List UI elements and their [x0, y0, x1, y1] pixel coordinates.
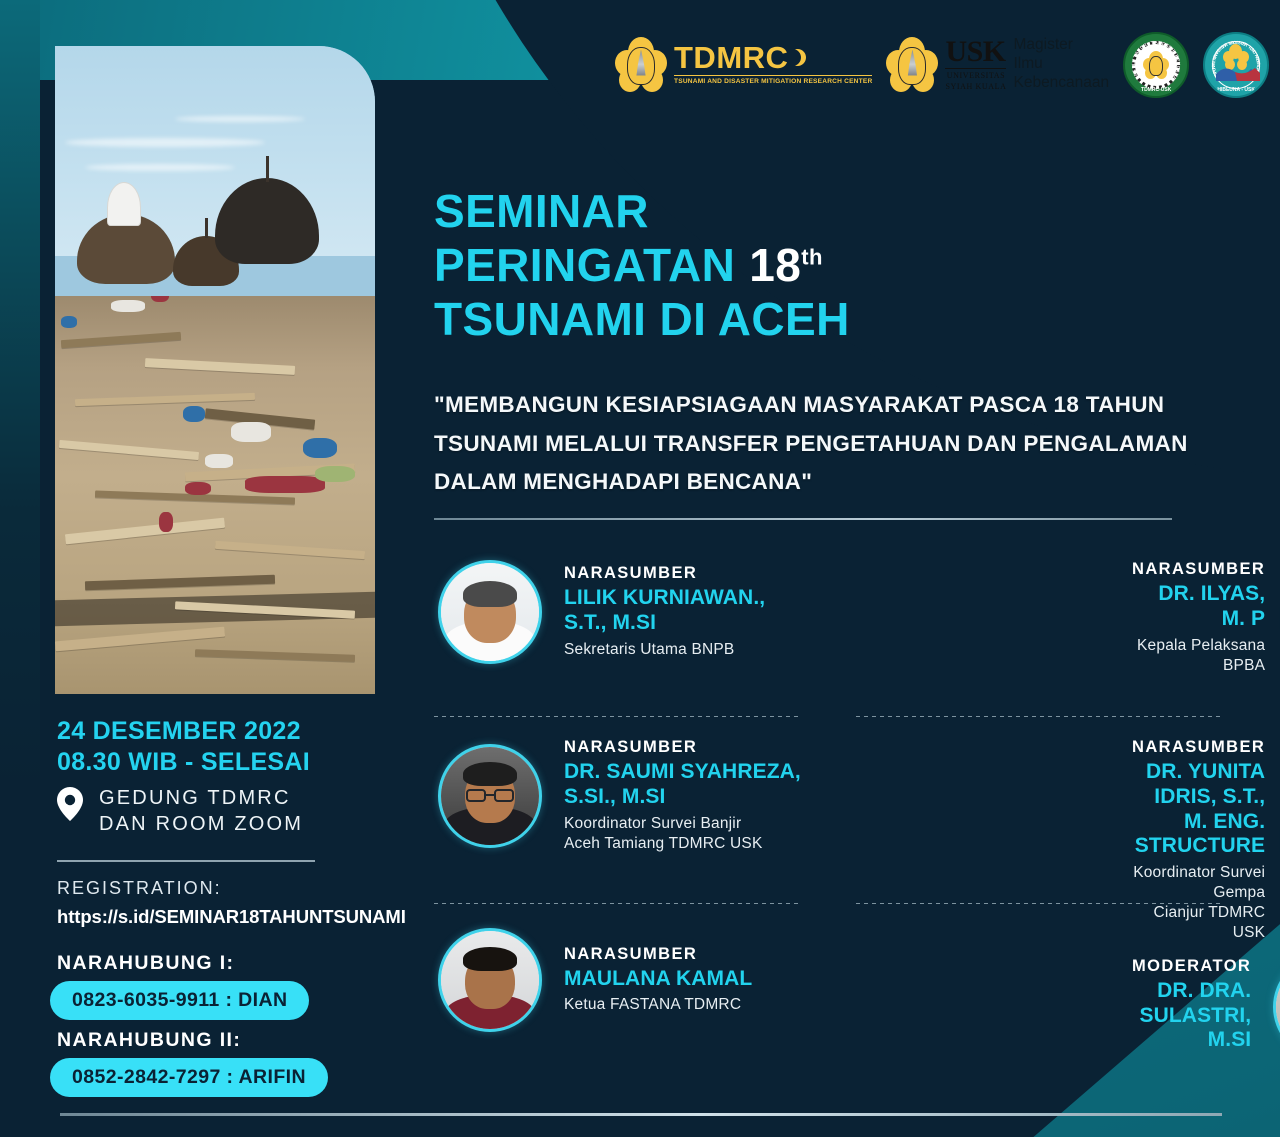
moderator-card-sulastri: MODERATOR DR. DRA. SULASTRI, M.SI — [1110, 955, 1280, 1059]
usk-shield-icon-2 — [886, 37, 938, 93]
background-left-edge — [0, 0, 40, 1137]
hibeuna-badge-label: HIBEUNA - USK — [1205, 87, 1267, 93]
contact-1-label: NARAHUBUNG I: — [57, 952, 234, 975]
usk-tagline-1: UNIVERSITAS — [945, 71, 1006, 81]
usk-wordmark: USK — [945, 37, 1006, 67]
venue-line-1: GEDUNG TDMRC — [99, 785, 303, 811]
avatar — [438, 744, 542, 848]
tdmrc-logo: TDMRC TSUNAMI AND DISASTER MITIGATION RE… — [615, 37, 872, 93]
event-time: 08.30 WIB - SELESAI — [57, 747, 310, 778]
speaker-row-divider-2-left — [434, 903, 799, 904]
speaker-row-divider-1-left — [434, 716, 799, 717]
event-date: 24 DESEMBER 2022 — [57, 716, 310, 747]
title-line-3: TSUNAMI DI ACEH — [434, 293, 850, 347]
event-datetime: 24 DESEMBER 2022 08.30 WIB - SELESAI — [57, 716, 310, 777]
speaker-affiliation: Koordinator Survei BanjirAceh Tamiang TD… — [564, 814, 801, 854]
title-line-2: PERINGATAN — [434, 239, 735, 293]
contact-1-value[interactable]: 0823-6035-9911 : DIAN — [50, 981, 309, 1020]
speaker-card-maulana-kamal: NARASUMBER MAULANA KAMAL Ketua FASTANA T… — [438, 928, 774, 1032]
tdmrc-name: TDMRC — [674, 42, 788, 73]
speaker-card-dr-ilyas: NARASUMBER DR. ILYAS, M. P Kepala Pelaks… — [1110, 560, 1280, 676]
speaker-affiliation: Ketua FASTANA TDMRC — [564, 995, 752, 1015]
speaker-row-divider-1-right — [856, 716, 1222, 717]
footer-divider — [60, 1113, 1222, 1116]
usk-divider — [945, 68, 1006, 70]
speaker-name: LILIK KURNIAWAN.,S.T., M.SI — [564, 586, 765, 636]
usk-shield-icon — [615, 37, 667, 93]
title-line-2-row: PERINGATAN 18th — [434, 239, 850, 293]
speaker-role: NARASUMBER — [564, 564, 765, 583]
tdmrc-tagline: TSUNAMI AND DISASTER MITIGATION RESEARCH… — [674, 78, 872, 87]
speaker-role: NARASUMBER — [564, 738, 801, 757]
speaker-role: NARASUMBER — [564, 945, 752, 964]
event-location: GEDUNG TDMRC DAN ROOM ZOOM — [57, 785, 303, 838]
tdmrc-divider — [674, 75, 872, 77]
title-ordinal-suffix: th — [801, 244, 823, 269]
fastana-badge: FASILITATOR TANGGUH BENCANA TDMRC-USK — [1123, 32, 1189, 98]
speaker-name: DR. ILYAS, M. P — [1132, 582, 1265, 632]
usk-tagline-2: SYIAH KUALA — [945, 82, 1006, 92]
speaker-affiliation: Kepala Pelaksana BPBA — [1132, 636, 1265, 676]
title-ordinal: 18th — [749, 239, 823, 293]
fastana-badge-label: TDMRC-USK — [1125, 87, 1187, 93]
title-divider — [434, 518, 1172, 520]
badge-shield-icon — [1143, 51, 1169, 79]
contact-2-value[interactable]: 0852-2842-7297 : ARIFIN — [50, 1058, 328, 1097]
tdmrc-wordmark: TDMRC — [674, 42, 872, 73]
photo-debris — [55, 296, 375, 694]
page-title: SEMINAR PERINGATAN 18th TSUNAMI DI ACEH — [434, 185, 850, 346]
speaker-name: MAULANA KAMAL — [564, 967, 752, 992]
moderator-role: MODERATOR — [1132, 957, 1251, 976]
program-line-2: Ilmu — [1013, 55, 1109, 74]
contact-2-label: NARAHUBUNG II: — [57, 1029, 241, 1052]
page-subtitle: "MEMBANGUN KESIAPSIAGAAN MASYARAKAT PASC… — [434, 386, 1214, 502]
logo-bar: TDMRC TSUNAMI AND DISASTER MITIGATION RE… — [615, 22, 1269, 107]
program-name: Magister Ilmu Kebencanaan — [1013, 36, 1109, 93]
avatar — [1273, 955, 1280, 1059]
speaker-affiliation: Sekretaris Utama BNPB — [564, 640, 765, 660]
speaker-card-yunita-idris: NARASUMBER DR. YUNITA IDRIS, S.T.,M. ENG… — [1110, 738, 1280, 944]
moderator-name: DR. DRA. SULASTRI, M.SI — [1132, 979, 1251, 1053]
speaker-card-lilik-kurniawan: NARASUMBER LILIK KURNIAWAN.,S.T., M.SI S… — [438, 560, 787, 664]
seminar-poster: TDMRC TSUNAMI AND DISASTER MITIGATION RE… — [0, 0, 1280, 1137]
title-ordinal-number: 18 — [749, 239, 801, 291]
left-divider — [57, 860, 315, 862]
hibeuna-badge: HIMPUNAN MAHASISWA MAGISTER ILMU KEBENCA… — [1203, 32, 1269, 98]
speaker-role: NARASUMBER — [1132, 560, 1265, 579]
speaker-name: DR. SAUMI SYAHREZA,S.SI., M.SI — [564, 760, 801, 810]
speaker-card-saumi-syahreza: NARASUMBER DR. SAUMI SYAHREZA,S.SI., M.S… — [438, 738, 823, 854]
registration-label: REGISTRATION: — [57, 878, 222, 899]
usk-logo: USK UNIVERSITAS SYIAH KUALA Magister Ilm… — [886, 36, 1109, 93]
title-line-1: SEMINAR — [434, 185, 850, 239]
speaker-name: DR. YUNITA IDRIS, S.T.,M. ENG. STRUCTURE — [1132, 760, 1265, 859]
avatar — [438, 560, 542, 664]
tsunami-photo — [55, 46, 375, 694]
program-line-1: Magister — [1013, 36, 1109, 55]
program-line-3: Kebencanaan — [1013, 74, 1109, 93]
wave-icon — [1215, 60, 1261, 82]
crescent-moon-icon — [789, 49, 806, 66]
venue-line-2: DAN ROOM ZOOM — [99, 811, 303, 837]
location-pin-icon — [57, 787, 83, 821]
speaker-role: NARASUMBER — [1132, 738, 1265, 757]
avatar — [438, 928, 542, 1032]
speaker-row-divider-2-right — [856, 903, 1222, 904]
registration-link[interactable]: https://s.id/SEMINAR18TAHUNTSUNAMI — [57, 906, 406, 928]
